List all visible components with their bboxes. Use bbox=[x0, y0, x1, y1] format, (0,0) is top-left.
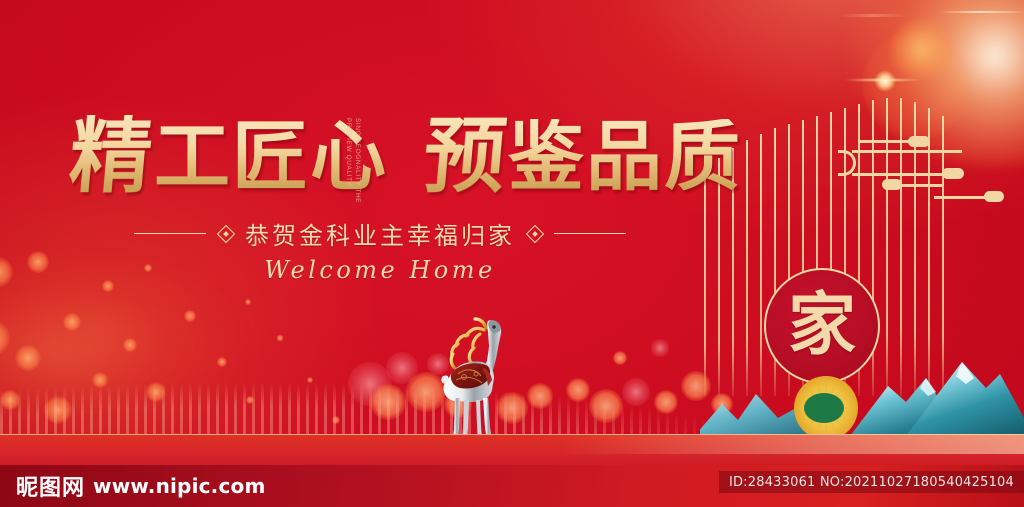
headline-char-8: 质 bbox=[664, 119, 742, 195]
diamond-ornament-left-icon bbox=[218, 226, 233, 241]
headline-side-caption: SINO SEOGNALITY THE PREVIEW QUALITY bbox=[345, 118, 361, 203]
footer-bar: 昵图网 www.nipic.com ID:28433061 NO:2021102… bbox=[0, 465, 1024, 507]
side-caption-line-1: SINO SEOGNALITY THE bbox=[354, 118, 361, 203]
welcome-text: Welcome Home bbox=[0, 256, 760, 284]
subtitle-rule-right bbox=[554, 233, 626, 234]
flare-streak-line-secondary-icon bbox=[838, 14, 908, 17]
subtitle-group: 恭贺金科业主幸福归家 bbox=[0, 216, 760, 251]
asset-id-badge: ID:28433061 NO:20211027180540425104 bbox=[719, 471, 1024, 493]
gold-fan-icon bbox=[794, 376, 858, 440]
ground-highlight bbox=[560, 434, 1024, 454]
stripe-texture-left bbox=[0, 332, 720, 442]
subtitle-text: 恭贺金科业主幸福归家 bbox=[245, 216, 515, 251]
headline-char-6: 鉴 bbox=[508, 119, 586, 195]
headline-char-2: 工 bbox=[154, 119, 232, 195]
chinese-cloud-motif-icon bbox=[838, 134, 1018, 200]
headline-char-3: 匠 bbox=[232, 119, 310, 195]
brand-name-cn[interactable]: 昵图网 bbox=[16, 470, 85, 502]
decorative-deer-icon bbox=[428, 308, 538, 448]
headline-char-1: 精 bbox=[66, 115, 157, 197]
flare-bokeh-small-icon bbox=[890, 18, 952, 80]
subtitle-rule-left bbox=[134, 233, 206, 234]
side-caption-line-2: PREVIEW QUALITY bbox=[345, 118, 352, 203]
headline-group: 精 工 匠 心 预 鉴 品 质 bbox=[70, 113, 742, 195]
flare-streak-line-icon bbox=[940, 11, 1024, 13]
headline-char-7: 品 bbox=[586, 119, 664, 195]
headline-char-5: 预 bbox=[420, 115, 511, 197]
brand-url[interactable]: www.nipic.com bbox=[93, 474, 266, 498]
diamond-ornament-right-icon bbox=[527, 226, 542, 241]
poster-canvas: 家 精 工 匠 心 预 鉴 品 质 SINO SEOGNALITY THE PR… bbox=[0, 0, 1024, 507]
flare-star-core-icon bbox=[874, 70, 896, 92]
